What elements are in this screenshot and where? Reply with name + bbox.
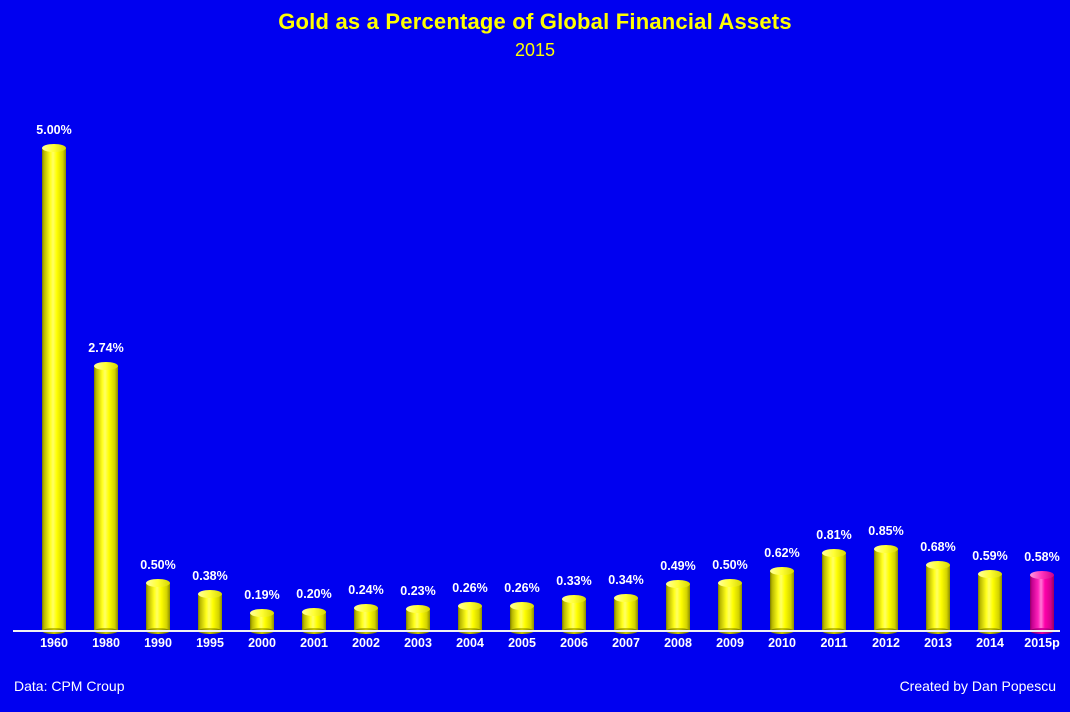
plot-area: 5.00%2.74%0.50%0.38%0.19%0.20%0.24%0.23%… [13, 90, 1060, 631]
x-axis-tick-label: 2001 [288, 636, 340, 650]
bar-top-face [42, 144, 66, 152]
x-axis-tick-label: 2003 [392, 636, 444, 650]
bar-body [146, 583, 170, 631]
bar-value-label: 0.59% [972, 549, 1007, 563]
bar[interactable] [978, 574, 1002, 631]
bar[interactable] [562, 599, 586, 631]
x-axis-tick-label: 2012 [860, 636, 912, 650]
x-axis-tick-label: 2006 [548, 636, 600, 650]
author-credit-label: Created by Dan Popescu [900, 678, 1056, 694]
bar-top-face [926, 561, 950, 569]
bar-value-label: 0.23% [400, 584, 435, 598]
bar[interactable] [666, 584, 690, 631]
bar-top-face [874, 545, 898, 553]
bar-value-label: 0.62% [764, 546, 799, 560]
bar-top-face [666, 580, 690, 588]
bar-value-label: 0.50% [140, 558, 175, 572]
bar-body [458, 606, 482, 631]
x-axis-tick-label: 2005 [496, 636, 548, 650]
bar-group: 0.23% [392, 90, 444, 631]
bar-group: 0.26% [444, 90, 496, 631]
bar-group: 0.59% [964, 90, 1016, 631]
page-title: Gold as a Percentage of Global Financial… [0, 8, 1070, 36]
bar-top-face [198, 590, 222, 598]
chart-container: Gold as a Percentage of Global Financial… [0, 0, 1070, 712]
bar-top-face [822, 549, 846, 557]
bar-top-face [978, 570, 1002, 578]
bar-group: 0.19% [236, 90, 288, 631]
bar-top-face [614, 594, 638, 602]
bar-top-face [510, 602, 534, 610]
x-axis-tick-label: 2015p [1016, 636, 1068, 650]
bar-top-face [458, 602, 482, 610]
bar-top-face [94, 362, 118, 370]
bar-body [874, 549, 898, 631]
bar-value-label: 0.38% [192, 569, 227, 583]
bar-value-label: 0.24% [348, 583, 383, 597]
bar-top-face [770, 567, 794, 575]
bar[interactable] [354, 608, 378, 631]
bar-value-label: 0.19% [244, 588, 279, 602]
bar-body [42, 148, 66, 631]
bar-body [510, 606, 534, 631]
title-block: Gold as a Percentage of Global Financial… [0, 8, 1070, 62]
bar-group: 0.20% [288, 90, 340, 631]
bar-group: 0.85% [860, 90, 912, 631]
bar-body [718, 583, 742, 631]
bar-value-label: 0.20% [296, 587, 331, 601]
bar-value-label: 0.50% [712, 558, 747, 572]
bar-group: 0.49% [652, 90, 704, 631]
bar[interactable] [770, 571, 794, 631]
bar-body [354, 608, 378, 631]
x-axis-tick-label: 2013 [912, 636, 964, 650]
x-axis-tick-label: 2010 [756, 636, 808, 650]
x-axis-tick-label: 2009 [704, 636, 756, 650]
bar-value-label: 0.26% [504, 581, 539, 595]
x-axis-tick-label: 1995 [184, 636, 236, 650]
x-axis-tick-label: 1990 [132, 636, 184, 650]
bar-group: 2.74% [80, 90, 132, 631]
bar[interactable] [146, 583, 170, 631]
bar-group: 0.33% [548, 90, 600, 631]
bar-top-face [406, 605, 430, 613]
x-axis-tick-label: 2002 [340, 636, 392, 650]
bar-value-label: 0.26% [452, 581, 487, 595]
bar-group: 5.00% [28, 90, 80, 631]
x-axis-labels: 1960198019901995200020012002200320042005… [13, 636, 1060, 656]
bar-body [562, 599, 586, 631]
bar-top-face [250, 609, 274, 617]
x-axis-line [13, 630, 1060, 632]
bar-value-label: 0.58% [1024, 550, 1059, 564]
bar-body [302, 612, 326, 631]
bar-body [978, 574, 1002, 631]
bar-top-face [718, 579, 742, 587]
bar[interactable] [42, 148, 66, 631]
bar-group: 0.68% [912, 90, 964, 631]
bar-top-face [1030, 571, 1054, 579]
bar-value-label: 0.33% [556, 574, 591, 588]
bar-group: 0.24% [340, 90, 392, 631]
bar-value-label: 0.68% [920, 540, 955, 554]
bar-body [822, 553, 846, 631]
bar-top-face [302, 608, 326, 616]
bar-group: 0.81% [808, 90, 860, 631]
bar[interactable] [614, 598, 638, 631]
bar-body [770, 571, 794, 631]
x-axis-tick-label: 2004 [444, 636, 496, 650]
x-axis-tick-label: 2008 [652, 636, 704, 650]
bar-group: 0.38% [184, 90, 236, 631]
bar-body [926, 565, 950, 631]
bar-body [198, 594, 222, 631]
bar-value-label: 0.81% [816, 528, 851, 542]
bar[interactable] [926, 565, 950, 631]
bar-value-label: 0.49% [660, 559, 695, 573]
bar-value-label: 2.74% [88, 341, 123, 355]
bar-body [406, 609, 430, 631]
bar[interactable] [250, 613, 274, 631]
bar-group: 0.58% [1016, 90, 1068, 631]
bar-group: 0.34% [600, 90, 652, 631]
bar-group: 0.62% [756, 90, 808, 631]
data-source-label: Data: CPM Croup [14, 678, 124, 694]
bar[interactable] [94, 366, 118, 631]
x-axis-tick-label: 2000 [236, 636, 288, 650]
bar[interactable] [302, 612, 326, 631]
bar-value-label: 0.34% [608, 573, 643, 587]
x-axis-tick-label: 2011 [808, 636, 860, 650]
bar-value-label: 5.00% [36, 123, 71, 137]
x-axis-tick-label: 2007 [600, 636, 652, 650]
bar[interactable] [1030, 575, 1054, 631]
bar-body [94, 366, 118, 631]
x-axis-tick-label: 1980 [80, 636, 132, 650]
bar-body [666, 584, 690, 631]
bar-group: 0.50% [704, 90, 756, 631]
bar[interactable] [406, 609, 430, 631]
bar[interactable] [874, 549, 898, 631]
bar[interactable] [718, 583, 742, 631]
x-axis-tick-label: 2014 [964, 636, 1016, 650]
bar-top-face [146, 579, 170, 587]
bar[interactable] [822, 553, 846, 631]
bar-value-label: 0.85% [868, 524, 903, 538]
bar-group: 0.26% [496, 90, 548, 631]
bar[interactable] [510, 606, 534, 631]
bar-body [614, 598, 638, 631]
bar-top-face [354, 604, 378, 612]
bar-body [250, 613, 274, 631]
x-axis-tick-label: 1960 [28, 636, 80, 650]
bar[interactable] [458, 606, 482, 631]
bar-group: 0.50% [132, 90, 184, 631]
bar-top-face [562, 595, 586, 603]
bar-body [1030, 575, 1054, 631]
chart-subtitle: 2015 [0, 38, 1070, 62]
bar[interactable] [198, 594, 222, 631]
